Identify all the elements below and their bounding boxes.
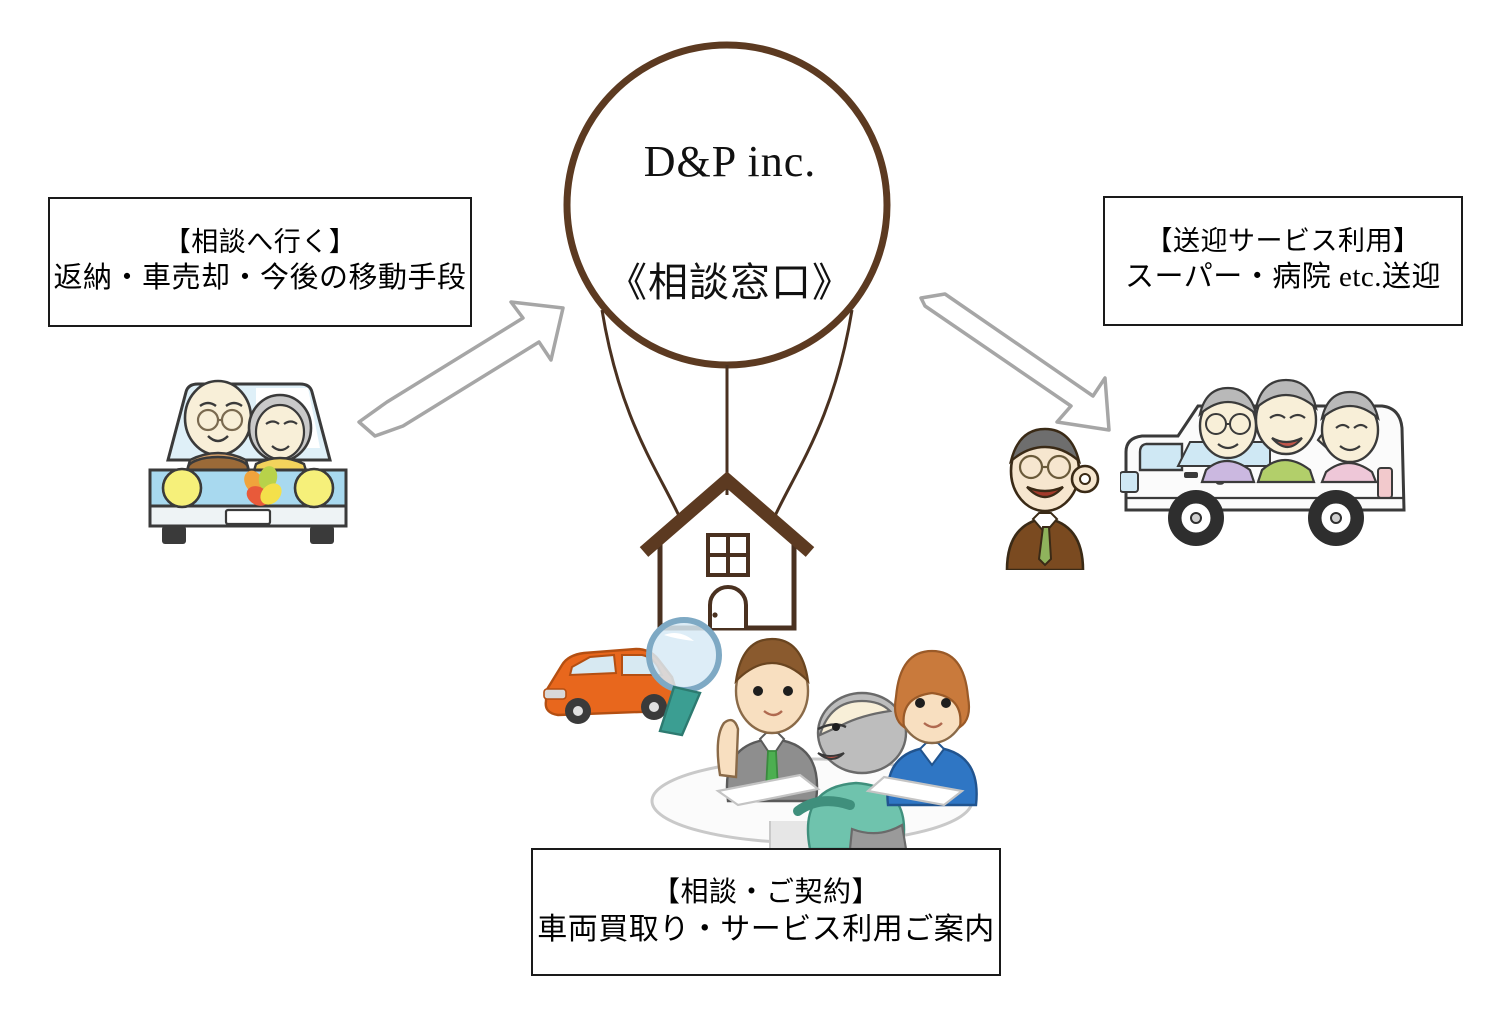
van-front-light — [1120, 472, 1138, 492]
car-headlight-right — [295, 469, 333, 507]
van-taillight — [1378, 468, 1392, 498]
van-door-handle-front — [1184, 472, 1198, 478]
balloon-group: D&P inc. 《相談窓口》 — [540, 40, 920, 640]
textbox-bottom-detail: 車両買取り・サービス利用ご案内 — [537, 910, 995, 949]
diagram-canvas: D&P inc. 《相談窓口》 【相談へ行く】 返納・車売却・今後の移動手段 【… — [0, 0, 1500, 1023]
van-passenger-1 — [1200, 388, 1256, 482]
textbox-left-detail: 返納・車売却・今後の移動手段 — [53, 260, 466, 298]
textbox-transport-service[interactable]: 【送迎サービス利用】 スーパー・病院 etc.送迎 — [1103, 196, 1463, 326]
textbox-left-heading: 【相談へ行く】 — [164, 226, 357, 260]
company-name: D&P inc. — [540, 136, 920, 187]
van-windshield — [1140, 444, 1182, 470]
car-passenger-woman — [249, 395, 311, 474]
car-license-plate — [226, 510, 270, 524]
textbox-consult-contract[interactable]: 【相談・ご契約】 車両買取り・サービス利用ご案内 — [531, 848, 1001, 976]
car-wheel-left — [162, 526, 186, 544]
textbox-right-heading: 【送迎サービス利用】 — [1146, 225, 1421, 259]
balloon-svg — [540, 40, 920, 640]
arrow-right-shape — [921, 294, 1109, 430]
car-wheel-right — [310, 526, 334, 544]
balloon-envelope-circle — [567, 45, 887, 365]
textbox-bottom-heading: 【相談・ご契約】 — [652, 875, 880, 910]
illustration-seniors-van — [1120, 360, 1420, 560]
staff-ok-circle — [1080, 474, 1090, 484]
meeting-staff-pointing-hand — [718, 720, 738, 777]
textbox-go-to-consult[interactable]: 【相談へ行く】 返納・車売却・今後の移動手段 — [48, 197, 472, 327]
textbox-right-detail: スーパー・病院 etc.送迎 — [1125, 259, 1441, 297]
consultation-desk-label: 《相談窓口》 — [540, 250, 920, 308]
illustration-consultation-meeting — [532, 605, 1012, 850]
car-headlight-left — [163, 469, 201, 507]
arrow-center-to-right — [915, 292, 1115, 432]
illustration-elderly-couple-car — [138, 348, 358, 548]
